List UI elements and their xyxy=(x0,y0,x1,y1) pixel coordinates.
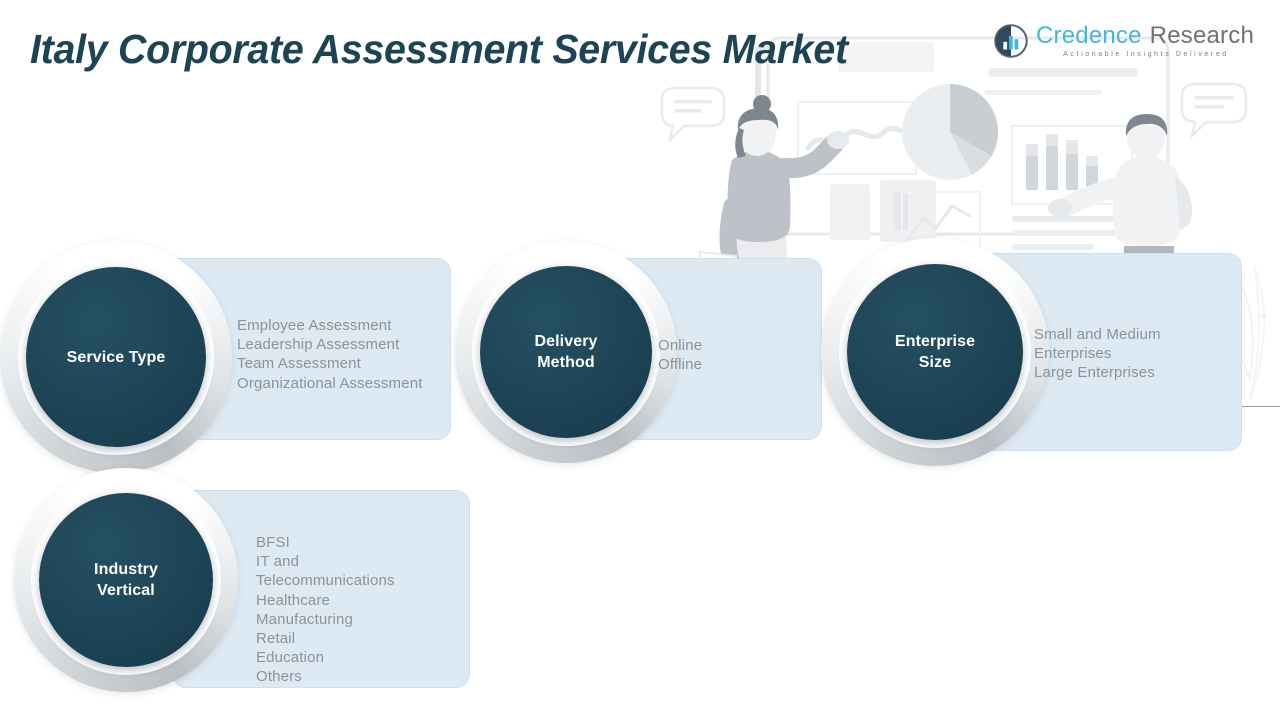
list-item: BFSI xyxy=(256,533,432,552)
segment-circle-service-type[interactable]: Service Type xyxy=(0,241,232,473)
list-item: Leadership Assessment xyxy=(237,335,467,354)
circle-disc: Service Type xyxy=(26,267,206,447)
segment-circle-delivery-method[interactable]: Delivery Method xyxy=(455,241,677,463)
list-item: Employee Assessment xyxy=(237,316,467,335)
list-item: Others xyxy=(256,667,432,686)
circle-disc: Industry Vertical xyxy=(39,493,213,667)
list-item: Retail xyxy=(256,629,432,648)
list-item: Organizational Assessment xyxy=(237,374,467,393)
segment-label: Industry Vertical xyxy=(94,559,158,601)
circle-disc: Delivery Method xyxy=(480,266,652,438)
brand-tagline: Actionable Insights Delivered xyxy=(1038,51,1254,58)
segment-circle-enterprise-size[interactable]: Enterprise Size xyxy=(821,238,1049,466)
infographic-canvas: Italy Corporate Assessment Services Mark… xyxy=(0,0,1280,720)
segment-label: Enterprise Size xyxy=(895,331,975,373)
segment-label: Service Type xyxy=(67,347,166,368)
list-item: Small and Medium Enterprises xyxy=(1034,325,1196,363)
list-item: IT and Telecommunications xyxy=(256,552,432,590)
brand-name-secondary: Research xyxy=(1150,24,1254,48)
decorative-hairline xyxy=(1238,406,1280,407)
segment-items-industry-vertical: BFSI IT and Telecommunications Healthcar… xyxy=(256,533,432,687)
list-item: Online xyxy=(658,336,808,355)
segment-circle-industry-vertical[interactable]: Industry Vertical xyxy=(14,468,238,692)
brand-logo[interactable]: Credence Research Actionable Insights De… xyxy=(994,24,1254,58)
segment-label: Delivery Method xyxy=(534,331,597,373)
segment-items-delivery-method: Online Offline xyxy=(658,336,808,374)
page-title: Italy Corporate Assessment Services Mark… xyxy=(30,24,848,74)
segment-items-enterprise-size: Small and Medium Enterprises Large Enter… xyxy=(1034,325,1196,383)
list-item: Education xyxy=(256,648,432,667)
list-item: Healthcare xyxy=(256,591,432,610)
list-item: Team Assessment xyxy=(237,354,467,373)
bar-chart-circle-icon xyxy=(994,24,1028,58)
brand-name-primary: Credence xyxy=(1036,24,1142,48)
segment-items-service-type: Employee Assessment Leadership Assessmen… xyxy=(237,316,467,393)
list-item: Large Enterprises xyxy=(1034,363,1196,382)
circle-disc: Enterprise Size xyxy=(847,264,1023,440)
list-item: Offline xyxy=(658,355,808,374)
list-item: Manufacturing xyxy=(256,610,432,629)
